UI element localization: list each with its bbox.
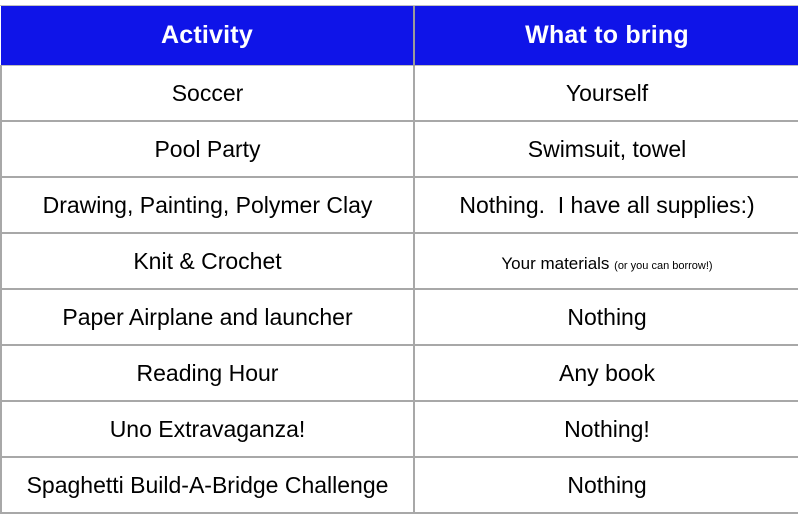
table-row: Uno Extravaganza! Nothing!	[1, 401, 798, 457]
bring-text: Nothing	[567, 472, 646, 498]
table-body: Soccer Yourself Pool Party Swimsuit, tow…	[1, 66, 798, 514]
table-row: Drawing, Painting, Polymer Clay Nothing.…	[1, 177, 798, 233]
bring-text: Nothing!	[564, 416, 650, 442]
cell-what-to-bring: Swimsuit, towel	[414, 121, 798, 177]
cell-what-to-bring: Nothing	[414, 289, 798, 345]
cell-activity: Drawing, Painting, Polymer Clay	[1, 177, 414, 233]
cell-activity: Paper Airplane and launcher	[1, 289, 414, 345]
cell-what-to-bring: Any book	[414, 345, 798, 401]
cell-what-to-bring: Nothing	[414, 457, 798, 513]
activity-sheet: Activity What to bring Soccer Yourself P…	[0, 0, 798, 514]
cell-what-to-bring: Nothing!	[414, 401, 798, 457]
activity-table: Activity What to bring Soccer Yourself P…	[0, 6, 798, 514]
table-row: Pool Party Swimsuit, towel	[1, 121, 798, 177]
column-header-what-to-bring: What to bring	[414, 6, 798, 66]
cell-activity: Pool Party	[1, 121, 414, 177]
table-row: Spaghetti Build-A-Bridge Challenge Nothi…	[1, 457, 798, 513]
bring-text: Nothing	[567, 304, 646, 330]
bring-text: Swimsuit, towel	[528, 136, 686, 162]
cell-what-to-bring: Yourself	[414, 66, 798, 122]
table-row: Soccer Yourself	[1, 66, 798, 122]
table-row: Paper Airplane and launcher Nothing	[1, 289, 798, 345]
table-row: Reading Hour Any book	[1, 345, 798, 401]
table-row: Knit & Crochet Your materials (or you ca…	[1, 233, 798, 289]
bring-text: Your materials	[501, 254, 614, 273]
cell-activity: Knit & Crochet	[1, 233, 414, 289]
cell-activity: Reading Hour	[1, 345, 414, 401]
bring-text: Any book	[559, 360, 655, 386]
bring-text: Nothing. I have all supplies:)	[459, 192, 754, 218]
table-header: Activity What to bring	[1, 6, 798, 66]
cell-activity: Soccer	[1, 66, 414, 122]
bring-note: (or you can borrow!)	[614, 260, 712, 272]
header-row: Activity What to bring	[1, 6, 798, 66]
cell-activity: Spaghetti Build-A-Bridge Challenge	[1, 457, 414, 513]
cell-activity: Uno Extravaganza!	[1, 401, 414, 457]
cell-what-to-bring: Your materials (or you can borrow!)	[414, 233, 798, 289]
bring-text: Yourself	[566, 80, 648, 106]
cell-what-to-bring: Nothing. I have all supplies:)	[414, 177, 798, 233]
column-header-activity: Activity	[1, 6, 414, 66]
